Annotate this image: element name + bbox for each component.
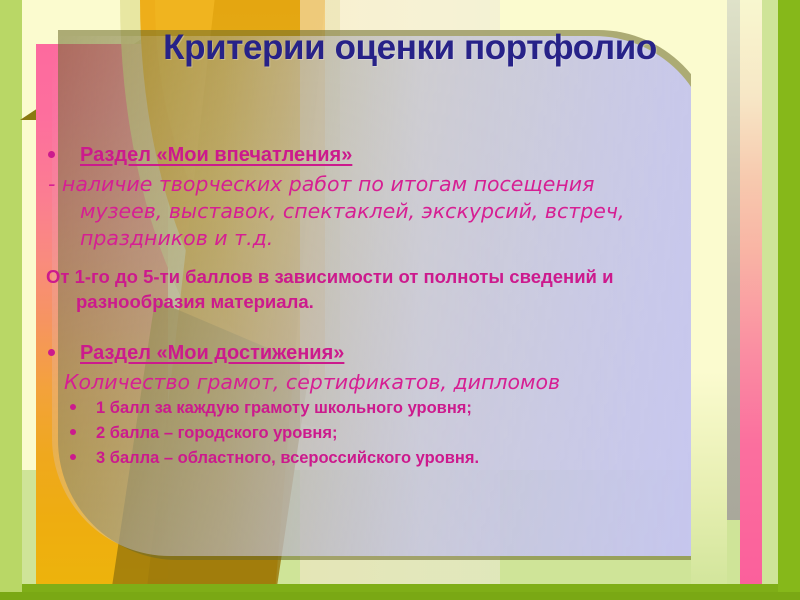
section-heading-achievements-label: Раздел «Мои достижения» bbox=[80, 342, 344, 364]
section-heading-impressions: Раздел «Мои впечатления» bbox=[34, 142, 764, 169]
section-spacer bbox=[34, 314, 764, 340]
bullet-dot-icon bbox=[70, 454, 76, 460]
achievements-italic-line-1: Количество грамот, сертификатов, дипломо… bbox=[34, 369, 764, 396]
impressions-italic-line-1: - наличие творческих работ по итогам пос… bbox=[34, 171, 764, 198]
section-heading-achievements: Раздел «Мои достижения» bbox=[34, 340, 764, 367]
spacer bbox=[34, 252, 764, 264]
section-my-achievements: Раздел «Мои достижения» Количество грамо… bbox=[34, 340, 764, 471]
page-title: Критерии оценки портфолио bbox=[150, 26, 670, 70]
list-item-label: 3 балла – областного, всероссийского уро… bbox=[96, 449, 479, 467]
list-item-label: 2 балла – городского уровня; bbox=[96, 424, 338, 442]
impressions-scoring-line-1: От 1-го до 5-ти баллов в зависимости от … bbox=[34, 264, 764, 289]
slide-content: Критерии оценки портфолио Раздел «Мои вп… bbox=[0, 0, 800, 600]
slide-body: Раздел «Мои впечатления» - наличие творч… bbox=[34, 142, 764, 471]
bullet-dot-icon bbox=[70, 404, 76, 410]
bullet-dot-icon bbox=[48, 151, 55, 158]
bullet-dot-icon bbox=[70, 429, 76, 435]
list-item: 2 балла – городского уровня; bbox=[34, 421, 764, 446]
list-item: 3 балла – областного, всероссийского уро… bbox=[34, 446, 764, 471]
list-item-label: 1 балл за каждую грамоту школьного уровн… bbox=[96, 399, 472, 417]
list-item: 1 балл за каждую грамоту школьного уровн… bbox=[34, 396, 764, 421]
section-my-impressions: Раздел «Мои впечатления» - наличие творч… bbox=[34, 142, 764, 314]
impressions-italic-line-2: музеев, выставок, спектаклей, экскурсий,… bbox=[34, 198, 764, 225]
slide-canvas: Критерии оценки портфолио Раздел «Мои вп… bbox=[0, 0, 800, 600]
section-heading-impressions-label: Раздел «Мои впечатления» bbox=[80, 144, 352, 166]
bullet-dot-icon bbox=[48, 349, 55, 356]
impressions-italic-line-3: праздников и т.д. bbox=[34, 225, 764, 252]
impressions-scoring-line-2: разнообразия материала. bbox=[34, 289, 764, 314]
